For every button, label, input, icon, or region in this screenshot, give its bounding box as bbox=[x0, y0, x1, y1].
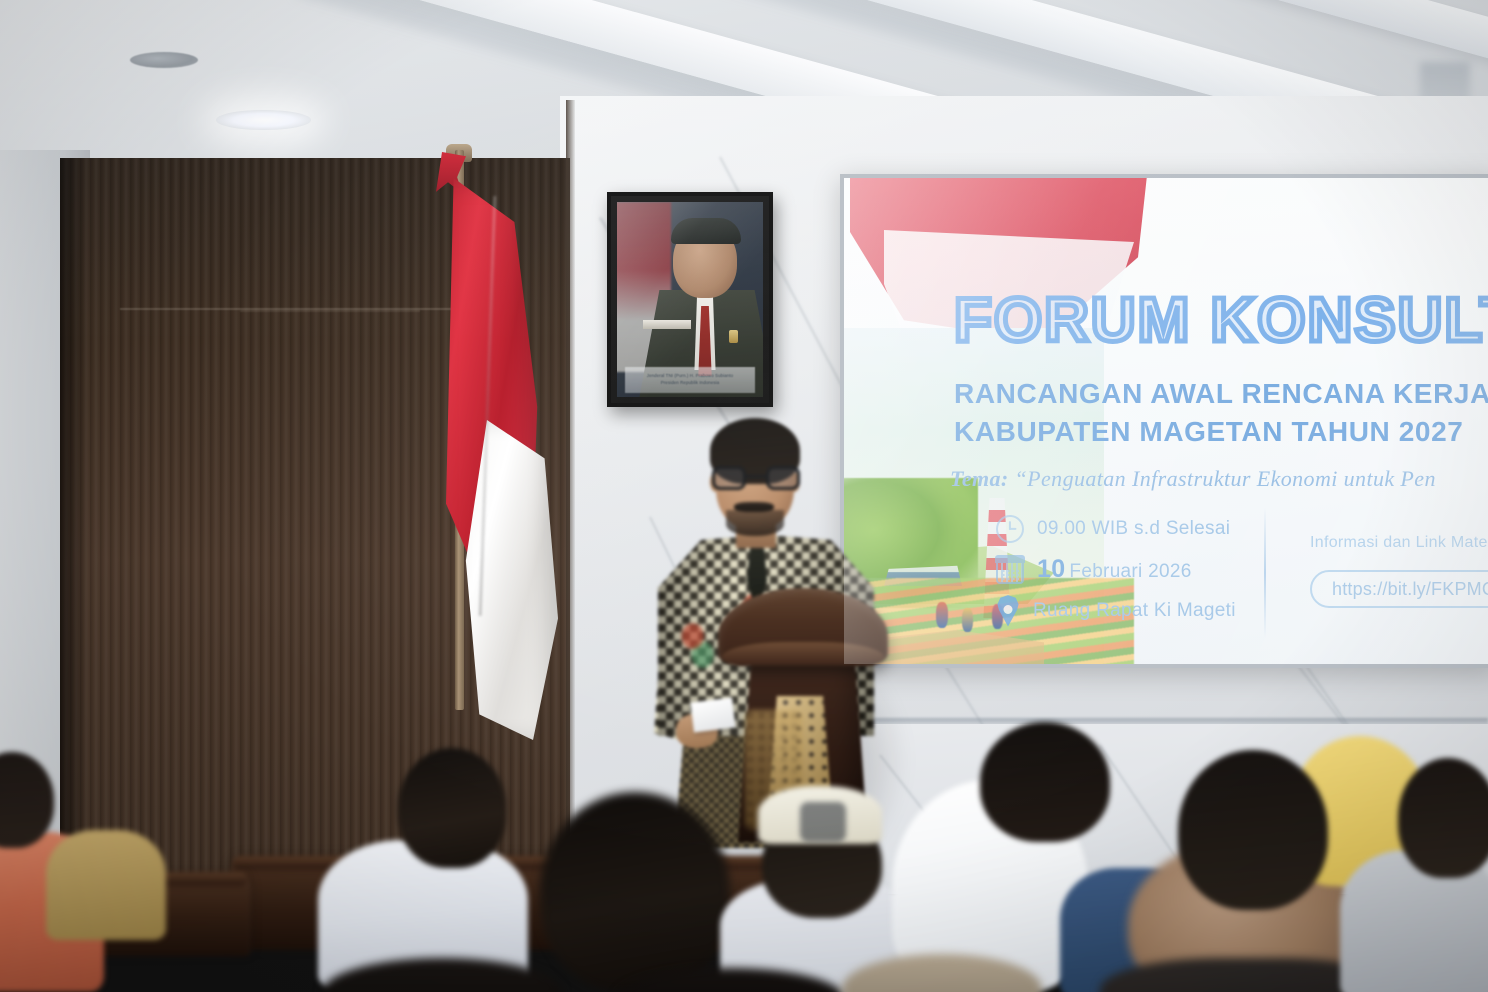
slide-theme-text: “Penguatan Infrastruktur Ekonomi untuk P… bbox=[1015, 466, 1436, 491]
portrait-glass-glare bbox=[617, 202, 763, 397]
projected-slide: FORUM KONSULTASI RANCANGAN AWAL RENCANA … bbox=[844, 178, 1488, 664]
slide-illustration-farmer bbox=[936, 602, 948, 628]
event-date-text: 10Februari 2026 bbox=[1037, 555, 1192, 584]
audience-head bbox=[398, 748, 506, 868]
audience-head bbox=[1178, 750, 1328, 910]
slide-divider bbox=[1264, 508, 1266, 638]
podium-lip bbox=[722, 642, 884, 664]
event-time-text: 09.00 WIB s.d Selesai bbox=[1037, 518, 1230, 540]
speaker-batik-motif bbox=[668, 614, 724, 672]
event-location-row: Ruang Rapat Ki Mageti bbox=[996, 590, 1236, 631]
location-pin-icon bbox=[996, 595, 1020, 627]
audience-head bbox=[540, 792, 730, 992]
slide-link-url[interactable]: https://bit.ly/FKPMGT2 bbox=[1310, 570, 1488, 608]
audience-glasses-icon bbox=[800, 802, 846, 842]
ceiling-downlight-icon bbox=[216, 110, 311, 130]
event-time-row: 09.00 WIB s.d Selesai bbox=[996, 508, 1236, 549]
slide-title: FORUM KONSULTASI bbox=[954, 290, 1488, 352]
slide-theme: Tema: “Penguatan Infrastruktur Ekonomi u… bbox=[950, 466, 1436, 492]
conference-room-photo: Jenderal TNI (Purn.) H. Prabowo Subianto… bbox=[0, 0, 1488, 992]
glasses-bridge bbox=[746, 475, 766, 478]
glasses-lens bbox=[712, 466, 746, 490]
speaker-beard bbox=[726, 510, 784, 536]
audience-bag bbox=[46, 830, 166, 940]
president-portrait: Jenderal TNI (Purn.) H. Prabowo Subianto… bbox=[617, 202, 763, 397]
glasses-icon bbox=[710, 466, 802, 490]
slide-illustration-farmer bbox=[962, 608, 973, 632]
projection-screen-frame: FORUM KONSULTASI RANCANGAN AWAL RENCANA … bbox=[840, 174, 1488, 668]
slide-event-details: 09.00 WIB s.d Selesai 10Februari 2026 Ru… bbox=[996, 508, 1236, 631]
calendar-icon bbox=[996, 556, 1024, 584]
audience-head bbox=[980, 722, 1110, 842]
slide-subtitle-line2: KABUPATEN MAGETAN TAHUN 2027 bbox=[954, 416, 1463, 448]
president-portrait-frame: Jenderal TNI (Purn.) H. Prabowo Subianto… bbox=[607, 192, 773, 407]
slide-subtitle-line1: RANCANGAN AWAL RENCANA KERJA bbox=[954, 378, 1488, 410]
audience-area bbox=[0, 700, 1488, 992]
slide-theme-prefix: Tema: bbox=[950, 466, 1009, 491]
event-location-text: Ruang Rapat Ki Mageti bbox=[1033, 600, 1236, 622]
slide-link-label: Informasi dan Link Materi bbox=[1310, 534, 1488, 552]
event-date-row: 10Februari 2026 bbox=[996, 549, 1236, 590]
event-day-number: 10 bbox=[1037, 555, 1065, 583]
ceiling-fixture-icon bbox=[130, 52, 198, 68]
audience-head bbox=[1398, 758, 1488, 878]
clock-icon bbox=[996, 515, 1024, 543]
glasses-lens bbox=[766, 466, 800, 490]
event-month-year: Februari 2026 bbox=[1069, 561, 1191, 582]
